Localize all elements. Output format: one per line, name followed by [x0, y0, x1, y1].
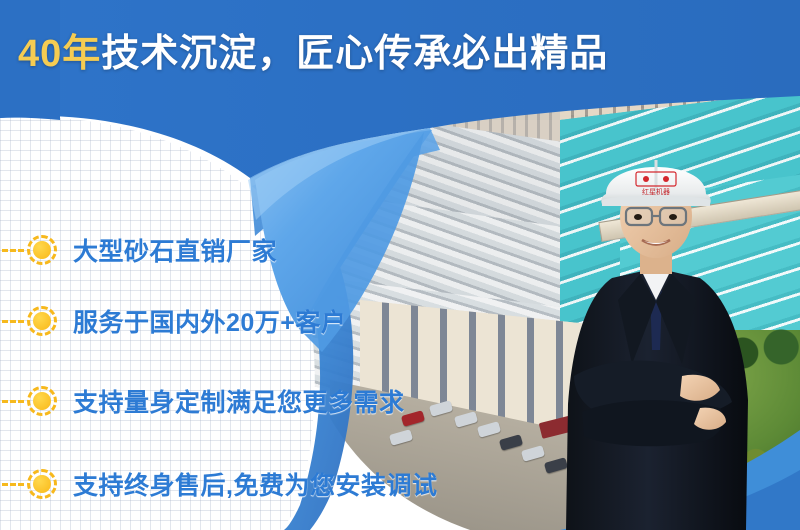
list-item[interactable]: 大型砂石直销厂家	[2, 232, 277, 268]
engineer-photo: 红星机器	[560, 150, 780, 530]
headline-accent: 40年	[18, 33, 101, 75]
list-item-label: 支持量身定制满足您更多需求	[73, 383, 405, 419]
sun-icon	[27, 306, 57, 336]
headline-rest: 技术沉淀，匠心传承必出精品	[101, 33, 608, 75]
sun-icon	[27, 386, 57, 416]
dashed-connector-icon	[2, 249, 24, 252]
list-item[interactable]: 服务于国内外20万+客户	[2, 303, 346, 339]
sun-icon	[27, 235, 57, 265]
sun-icon	[27, 469, 57, 499]
list-item[interactable]: 支持终身售后,免费为您安装调试	[2, 466, 437, 502]
svg-text:红星机器: 红星机器	[642, 187, 670, 196]
dashed-connector-icon	[2, 400, 24, 403]
list-item-label: 服务于国内外20万+客户	[73, 303, 346, 339]
dashed-connector-icon	[2, 483, 24, 486]
dashed-connector-icon	[2, 320, 24, 323]
list-item-label: 大型砂石直销厂家	[73, 232, 277, 268]
list-item[interactable]: 支持量身定制满足您更多需求	[2, 383, 405, 419]
promo-banner: 40年技术沉淀，匠心传承必出精品 红星 HONGXING MACHINERY 大…	[0, 0, 800, 530]
list-item-label: 支持终身售后,免费为您安装调试	[73, 466, 437, 502]
page-title: 40年技术沉淀，匠心传承必出精品	[18, 22, 608, 77]
